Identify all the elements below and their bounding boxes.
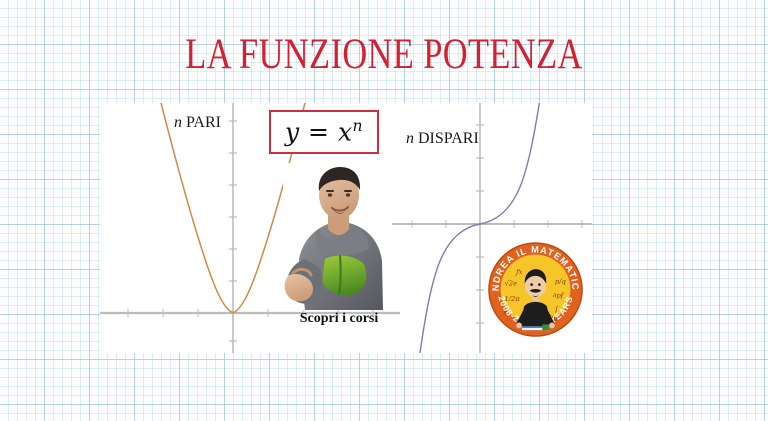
label-odd-variable: n xyxy=(406,130,414,147)
svg-text:ƒx: ƒx xyxy=(514,268,523,276)
label-odd-power: n DISPARI xyxy=(406,130,479,148)
label-even-variable: n xyxy=(174,114,182,131)
svg-text:ε: ε xyxy=(503,309,507,317)
label-odd-text: DISPARI xyxy=(414,130,479,147)
logo-badge[interactable]: ANDREA IL MATEMATICO 2008-2018 10 YEARS … xyxy=(487,241,584,338)
svg-text:∫: ∫ xyxy=(555,305,559,313)
presenter-photo xyxy=(283,163,390,310)
cta-caption[interactable]: Scopri i corsi xyxy=(283,311,395,327)
label-even-text: PARI xyxy=(182,114,221,131)
svg-text:p/q: p/q xyxy=(555,278,567,286)
photo-logo-graphic xyxy=(322,256,366,296)
presenter-illustration xyxy=(283,163,390,310)
slide-canvas: LA FUNZIONE POTENZA xyxy=(0,0,768,421)
svg-text:1/2π: 1/2π xyxy=(504,295,520,303)
formula-exponent: n xyxy=(353,117,363,135)
svg-text:∂pf: ∂pf xyxy=(553,291,565,299)
page-title: LA FUNZIONE POTENZA xyxy=(77,31,691,79)
formula-box: y = xn xyxy=(269,110,379,154)
svg-text:√2e: √2e xyxy=(504,280,517,288)
formula-expression: y = xn xyxy=(285,117,363,146)
formula-equals: = xyxy=(308,118,329,147)
formula-lhs: y xyxy=(285,118,300,147)
label-even-power: n PARI xyxy=(174,114,221,132)
formula-base: x xyxy=(338,118,353,147)
logo-badge-svg: ANDREA IL MATEMATICO 2008-2018 10 YEARS … xyxy=(487,241,584,338)
